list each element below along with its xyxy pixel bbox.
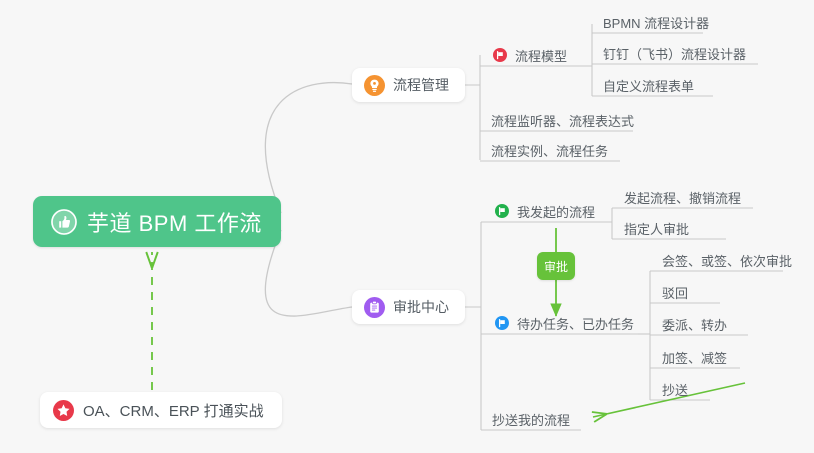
topic-label-delegate-transfer: 委派、转办 — [662, 315, 727, 334]
branch-node-approval-center[interactable]: 审批中心 — [352, 290, 465, 324]
topic-reject[interactable]: 驳回 — [658, 281, 694, 303]
topic-custom-process-form[interactable]: 自定义流程表单 — [599, 74, 700, 96]
topic-label-process-instance-task: 流程实例、流程任务 — [491, 141, 608, 160]
approval-annotation-label: 审批 — [544, 258, 568, 275]
lightbulb-icon — [364, 75, 385, 96]
topic-dingtalk-feishu-designer[interactable]: 钉钉（飞书）流程设计器 — [599, 42, 752, 64]
topic-cc-to-me-process[interactable]: 抄送我的流程 — [488, 408, 576, 430]
flag-icon — [493, 48, 507, 62]
branch-node-process-management[interactable]: 流程管理 — [352, 68, 465, 102]
topic-start-cancel-process[interactable]: 发起流程、撤销流程 — [620, 186, 747, 208]
topic-multi-sign-approval[interactable]: 会签、或签、依次审批 — [658, 249, 798, 271]
star-icon — [53, 400, 74, 421]
callout-node-integration[interactable]: OA、CRM、ERP 打通实战 — [40, 392, 282, 428]
topic-assignee-approval[interactable]: 指定人审批 — [620, 217, 695, 239]
root-node[interactable]: 芋道 BPM 工作流 — [33, 196, 281, 247]
topic-add-remove-sign[interactable]: 加签、减签 — [658, 346, 733, 368]
branch-label-approval-center: 审批中心 — [393, 297, 449, 317]
callout-label-integration: OA、CRM、ERP 打通实战 — [83, 400, 264, 421]
topic-todo-done-tasks[interactable]: 待办任务、已办任务 — [491, 312, 640, 334]
connector-root-to-process — [265, 83, 352, 213]
topic-label-dingtalk-feishu-designer: 钉钉（飞书）流程设计器 — [603, 44, 746, 63]
root-label: 芋道 BPM 工作流 — [87, 206, 262, 238]
topic-process-listener-expression[interactable]: 流程监听器、流程表达式 — [487, 109, 640, 131]
flag-icon — [495, 204, 509, 218]
topic-label-reject: 驳回 — [662, 283, 688, 302]
topic-my-initiated-process[interactable]: 我发起的流程 — [491, 200, 601, 222]
topic-label-custom-process-form: 自定义流程表单 — [603, 76, 694, 95]
thumbs-up-icon — [51, 209, 77, 235]
mindmap-canvas: 芋道 BPM 工作流 流程管理 审批中心 — [0, 0, 814, 453]
topic-label-cc: 抄送 — [662, 380, 688, 399]
topic-label-bpmn-designer: BPMN 流程设计器 — [603, 13, 709, 32]
approval-annotation-pill: 审批 — [537, 252, 575, 280]
topic-label-cc-to-me-process: 抄送我的流程 — [492, 410, 570, 429]
topic-delegate-transfer[interactable]: 委派、转办 — [658, 313, 733, 335]
topic-label-assignee-approval: 指定人审批 — [624, 219, 689, 238]
topic-label-process-listener-expression: 流程监听器、流程表达式 — [491, 111, 634, 130]
topic-process-model[interactable]: 流程模型 — [489, 44, 573, 66]
topic-process-instance-task[interactable]: 流程实例、流程任务 — [487, 139, 614, 161]
flag-icon — [495, 316, 509, 330]
topic-label-multi-sign-approval: 会签、或签、依次审批 — [662, 251, 792, 270]
topic-label-start-cancel-process: 发起流程、撤销流程 — [624, 188, 741, 207]
clipboard-icon — [364, 297, 385, 318]
topic-bpmn-designer[interactable]: BPMN 流程设计器 — [599, 11, 715, 33]
branch-label-process-management: 流程管理 — [393, 75, 449, 95]
topic-label-add-remove-sign: 加签、减签 — [662, 348, 727, 367]
topic-cc[interactable]: 抄送 — [658, 378, 694, 400]
topic-label-process-model: 流程模型 — [515, 46, 567, 65]
topic-label-my-initiated-process: 我发起的流程 — [517, 202, 595, 221]
topic-label-todo-done-tasks: 待办任务、已办任务 — [517, 314, 634, 333]
